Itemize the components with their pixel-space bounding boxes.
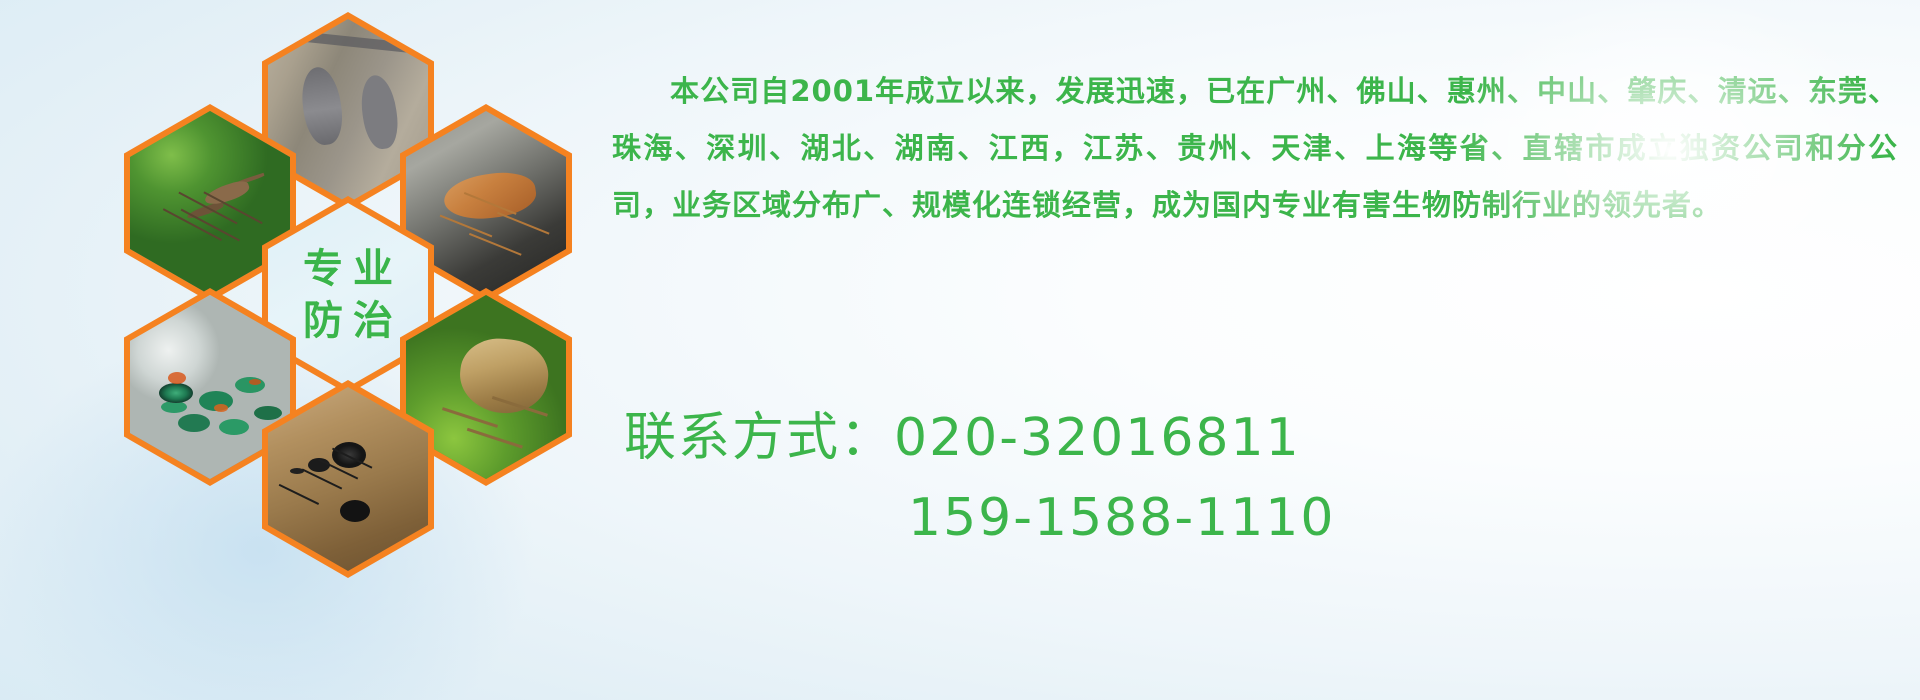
contact-line-landline[interactable]: 联系方式：020-32016811	[618, 398, 1908, 478]
promo-banner: 专业 防治 本公司自2001年成立以来，发展迅速，已在广州、佛山、惠州、中山、肇…	[0, 0, 1920, 700]
honeycomb-cluster: 专业 防治	[86, 0, 606, 594]
intro-block: 本公司自2001年成立以来，发展迅速，已在广州、佛山、惠州、中山、肇庆、清远、东…	[612, 34, 1892, 263]
ant-icon	[268, 387, 428, 571]
intro-paragraph: 本公司自2001年成立以来，发展迅速，已在广州、佛山、惠州、中山、肇庆、清远、东…	[612, 63, 1898, 234]
hex-photo-ant	[268, 387, 428, 571]
slogan-line-2: 防治	[293, 301, 403, 341]
contact-block: 联系方式：020-32016811 159-1588-1110	[618, 398, 1908, 558]
contact-line-mobile[interactable]: 159-1588-1110	[618, 478, 1908, 558]
slogan-line-1: 专业	[293, 249, 403, 289]
